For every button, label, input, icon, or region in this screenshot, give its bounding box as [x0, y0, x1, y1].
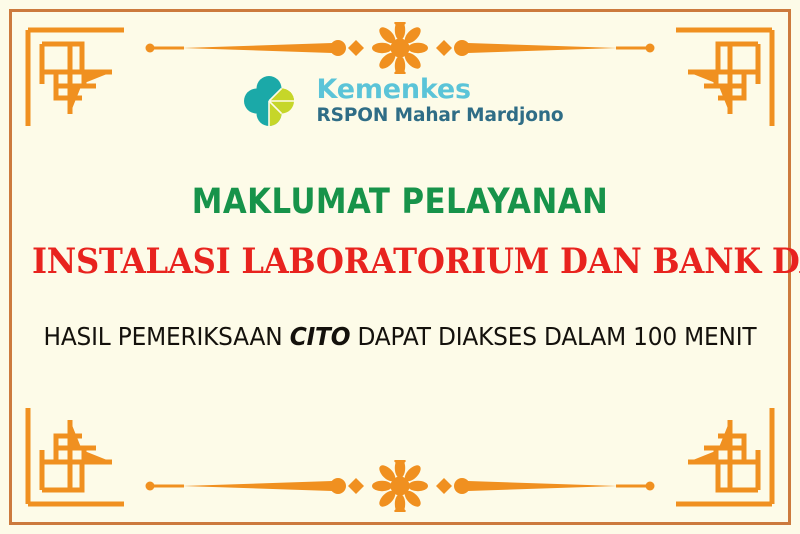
kemenkes-flower-logo-icon: [236, 64, 302, 138]
heading-unit-title: INSTALASI LABORATORIUM DAN BANK DARAH: [32, 241, 768, 282]
statement-part-2: DAPAT DIAKSES DALAM 100 MENIT: [350, 322, 756, 351]
heading-maklumat-pelayanan: MAKLUMAT PELAYANAN: [48, 182, 752, 222]
poster-canvas: Kemenkes RSPON Mahar Mardjono MAKLUMAT P…: [0, 0, 800, 534]
brand-name: Kemenkes: [316, 76, 563, 104]
kemenkes-logo-text: Kemenkes RSPON Mahar Mardjono: [316, 76, 563, 125]
kemenkes-logo-lockup: Kemenkes RSPON Mahar Mardjono: [0, 62, 800, 140]
statement-emphasis-cito: CITO: [290, 322, 351, 351]
corner-ornament-bottom-right: [668, 400, 776, 508]
corner-ornament-bottom-left: [24, 400, 132, 508]
poster-content: Kemenkes RSPON Mahar Mardjono MAKLUMAT P…: [0, 62, 800, 351]
flourish-ornament-bottom: [120, 460, 680, 512]
statement-part-1: HASIL PEMERIKSAAN: [44, 322, 290, 351]
service-statement: HASIL PEMERIKSAAN CITO DAPAT DIAKSES DAL…: [28, 322, 772, 351]
brand-unit-name: RSPON Mahar Mardjono: [316, 106, 563, 125]
